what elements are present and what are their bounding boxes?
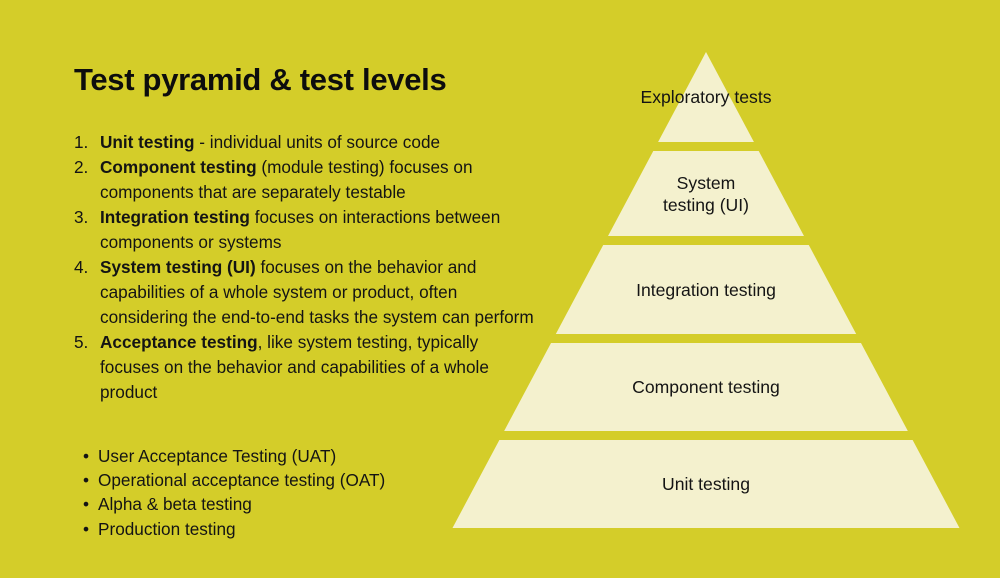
- text-panel: Test pyramid & test levels 1.Unit testin…: [0, 0, 545, 578]
- bullet-icon: •: [74, 517, 98, 541]
- list-item: •Alpha & beta testing: [74, 492, 536, 516]
- list-item: •Operational acceptance testing (OAT): [74, 468, 536, 492]
- list-item-term: Unit testing: [100, 132, 195, 152]
- pyramid-tier-label: System testing (UI): [556, 172, 856, 216]
- list-item-term: System testing (UI): [100, 257, 256, 277]
- list-item-marker: 5.: [74, 330, 100, 355]
- list-item-text: Production testing: [98, 517, 536, 541]
- pyramid-tier-label: Integration testing: [556, 279, 856, 301]
- list-item-marker: 4.: [74, 255, 100, 280]
- list-item: 5.Acceptance testing, like system testin…: [74, 330, 536, 405]
- list-item: •User Acceptance Testing (UAT): [74, 444, 536, 468]
- bullet-icon: •: [74, 444, 98, 468]
- list-item: 1.Unit testing - individual units of sou…: [74, 130, 536, 155]
- list-item-term: Component testing: [100, 157, 257, 177]
- list-item-text: Operational acceptance testing (OAT): [98, 468, 536, 492]
- list-item: 2.Component testing (module testing) foc…: [74, 155, 536, 205]
- pyramid-tier-label: Unit testing: [556, 473, 856, 495]
- bullet-icon: •: [74, 492, 98, 516]
- list-item-marker: 3.: [74, 205, 100, 230]
- list-item-term: Integration testing: [100, 207, 250, 227]
- test-levels-numbered-list: 1.Unit testing - individual units of sou…: [74, 130, 536, 405]
- acceptance-testing-bullet-list: •User Acceptance Testing (UAT)•Operation…: [74, 444, 536, 541]
- page-title: Test pyramid & test levels: [74, 62, 446, 98]
- pyramid-tier-label: Component testing: [556, 376, 856, 398]
- list-item-term: Acceptance testing: [100, 332, 258, 352]
- bullet-icon: •: [74, 468, 98, 492]
- list-item-marker: 1.: [74, 130, 100, 155]
- list-item-text: User Acceptance Testing (UAT): [98, 444, 536, 468]
- list-item-text: Alpha & beta testing: [98, 492, 536, 516]
- list-item-text: Integration testing focuses on interacti…: [100, 205, 536, 255]
- list-item: •Production testing: [74, 517, 536, 541]
- list-item-text: Unit testing - individual units of sourc…: [100, 130, 536, 155]
- list-item-text: Component testing (module testing) focus…: [100, 155, 536, 205]
- list-item: 3.Integration testing focuses on interac…: [74, 205, 536, 255]
- list-item-description: - individual units of source code: [195, 132, 441, 152]
- list-item-text: Acceptance testing, like system testing,…: [100, 330, 536, 405]
- list-item-marker: 2.: [74, 155, 100, 180]
- list-item: 4.System testing (UI) focuses on the beh…: [74, 255, 536, 330]
- pyramid-tier-label: Exploratory tests: [556, 86, 856, 108]
- list-item-text: System testing (UI) focuses on the behav…: [100, 255, 536, 330]
